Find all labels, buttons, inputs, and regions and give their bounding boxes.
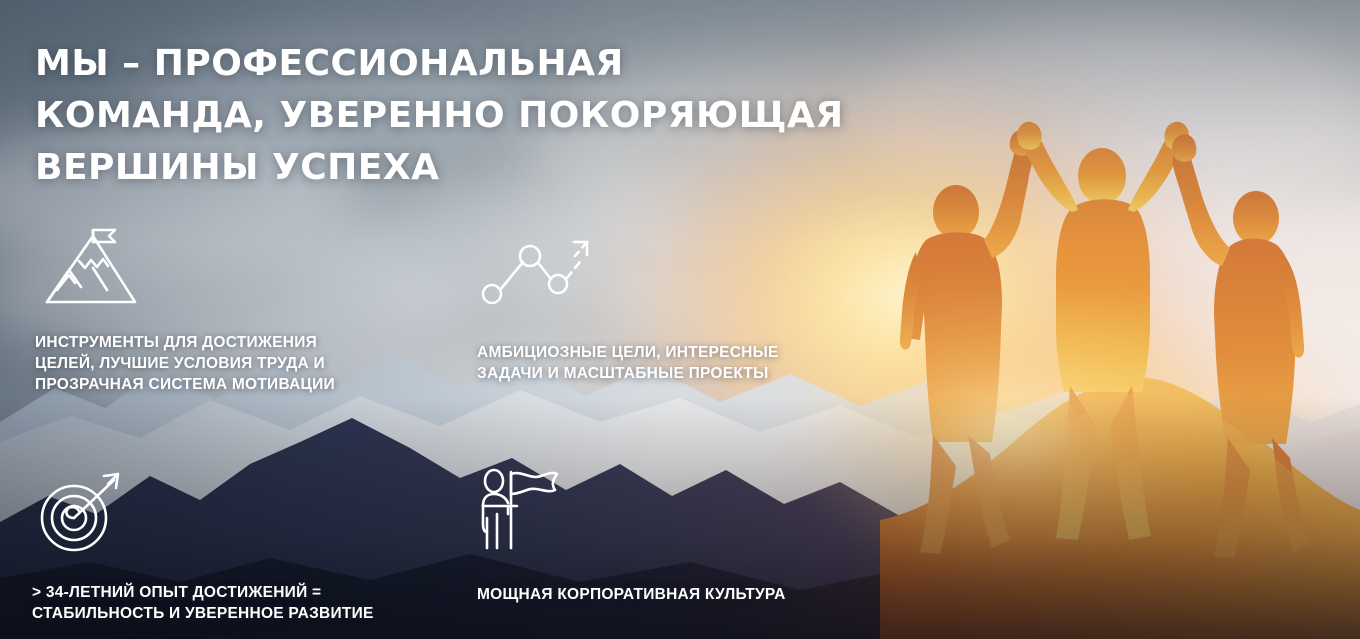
feature-text: АМБИЦИОЗНЫЕ ЦЕЛИ, ИНТЕРЕСНЫЕ ЗАДАЧИ И МА…	[477, 342, 779, 384]
hero-banner: МЫ – ПРОФЕССИОНАЛЬНАЯ КОМАНДА, УВЕРЕННО …	[0, 0, 1360, 639]
feature-text: ИНСТРУМЕНТЫ ДЛЯ ДОСТИЖЕНИЯ ЦЕЛЕЙ, ЛУЧШИЕ…	[35, 332, 335, 395]
person-with-flag-icon	[477, 468, 786, 550]
headline-line-2: КОМАНДА, УВЕРЕННО ПОКОРЯЮЩАЯ	[35, 90, 915, 142]
target-arrow-icon	[32, 470, 374, 554]
growth-chart-arrow-icon	[477, 232, 779, 304]
feature-item-experience: > 34-ЛЕТНИЙ ОПЫТ ДОСТИЖЕНИЙ = СТАБИЛЬНОС…	[32, 470, 374, 624]
feature-item-tools: ИНСТРУМЕНТЫ ДЛЯ ДОСТИЖЕНИЯ ЦЕЛЕЙ, ЛУЧШИЕ…	[35, 228, 335, 395]
feature-item-goals: АМБИЦИОЗНЫЕ ЦЕЛИ, ИНТЕРЕСНЫЕ ЗАДАЧИ И МА…	[477, 232, 779, 384]
headline-line-3: ВЕРШИНЫ УСПЕХА	[35, 142, 915, 194]
headline-line-1: МЫ – ПРОФЕССИОНАЛЬНАЯ	[35, 38, 915, 90]
feature-item-culture: МОЩНАЯ КОРПОРАТИВНАЯ КУЛЬТУРА	[477, 468, 786, 605]
mountain-flag-icon	[35, 228, 335, 310]
feature-text: МОЩНАЯ КОРПОРАТИВНАЯ КУЛЬТУРА	[477, 584, 786, 605]
banner-headline: МЫ – ПРОФЕССИОНАЛЬНАЯ КОМАНДА, УВЕРЕННО …	[35, 38, 915, 194]
banner-content: МЫ – ПРОФЕССИОНАЛЬНАЯ КОМАНДА, УВЕРЕННО …	[0, 0, 1360, 639]
feature-text: > 34-ЛЕТНИЙ ОПЫТ ДОСТИЖЕНИЙ = СТАБИЛЬНОС…	[32, 582, 374, 624]
